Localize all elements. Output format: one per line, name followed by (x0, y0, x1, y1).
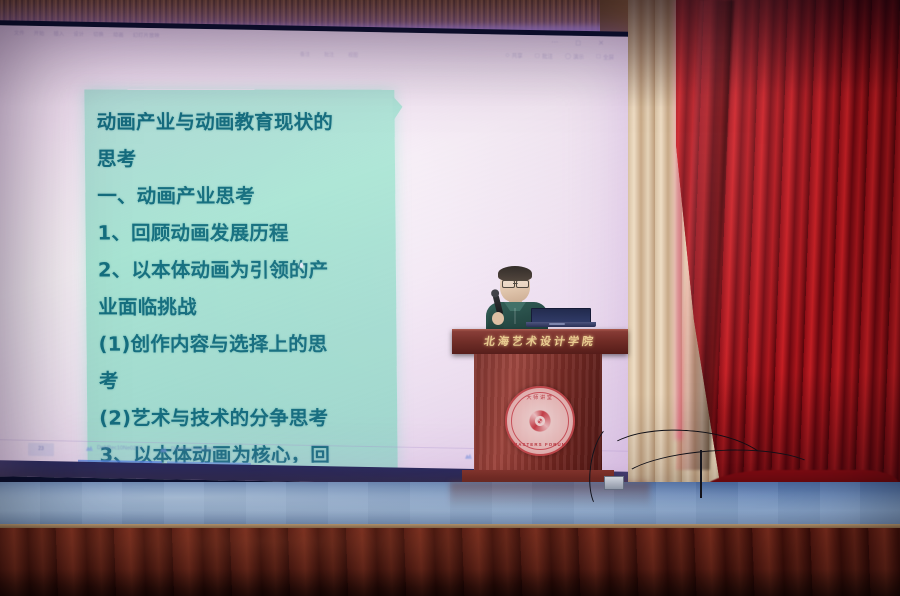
podium-top-edge (452, 329, 628, 332)
emblem-cn-text: 大师讲堂 (507, 394, 573, 401)
lecture-hall-photo: 文件 开始 插入 设计 切换 动画 幻灯片放映 ⋯ ◻ ✕ ◇ 共享 (0, 0, 900, 596)
eyeglasses-left-lens (502, 280, 515, 288)
emblem-swirl-icon (523, 404, 557, 438)
speaker-hair (498, 266, 532, 281)
speaker-shirt-placket (514, 308, 516, 324)
podium-emblem: 大师讲堂 MASTERS FORUM (505, 386, 575, 456)
speaker-person (474, 268, 560, 338)
podium-top-panel: 北海艺术设计学院 (452, 329, 628, 354)
emblem-en-text: MASTERS FORUM (507, 442, 573, 447)
microphone-stand (700, 450, 702, 498)
laptop-trackpad (549, 323, 565, 325)
speaker-hand (492, 312, 504, 325)
eyeglasses-right-lens (516, 280, 529, 288)
floor-monitor-box (604, 476, 624, 490)
eyeglasses-icon (502, 280, 529, 286)
venue-name-plate: 北海艺术设计学院 (451, 333, 630, 349)
stage-apron (0, 528, 900, 596)
